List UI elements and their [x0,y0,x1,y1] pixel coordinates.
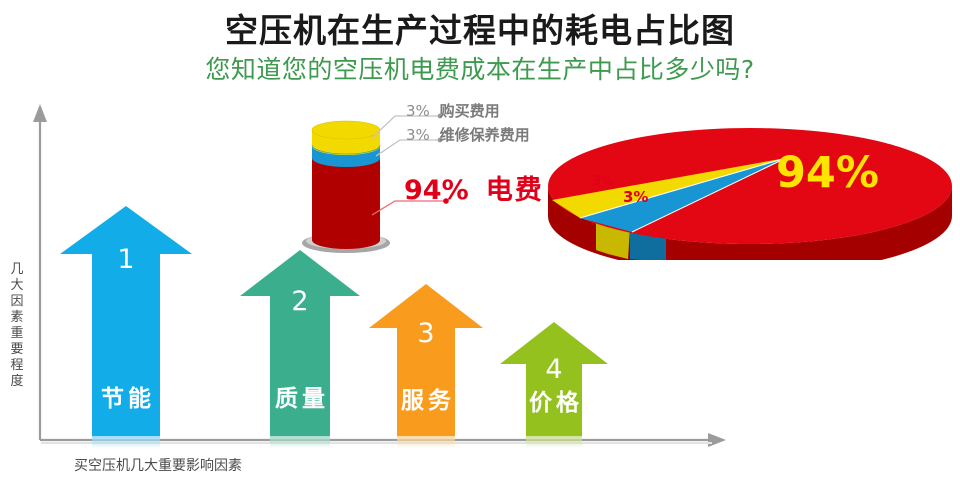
pie-slice-percent-yellow: 3% [592,174,614,189]
callout-label-purchase: 购买费用 [440,102,500,120]
callout-electricity-cost: 94% 电费 [404,168,544,207]
pie-chart: 94% 3% 3% [540,112,960,260]
pie-slice-percent-blue: 3% [623,188,648,206]
callout-purchase-cost: 3% 购买费用 [406,100,500,121]
callout-label-maintenance: 维修保养费用 [440,126,530,144]
callout-percent-maintenance: 3% [406,126,430,144]
callout-percent-electricity: 94% [404,175,469,206]
infographic-canvas: 空压机在生产过程中的耗电占比图 您知道您的空压机电费成本在生产中占比多少吗? 几… [0,0,960,483]
callout-label-electricity: 电费 [486,175,544,206]
callout-percent-purchase: 3% [406,102,430,120]
callout-maintenance-cost: 3% 维修保养费用 [406,124,530,145]
pie-main-percent: 94% [776,148,879,198]
